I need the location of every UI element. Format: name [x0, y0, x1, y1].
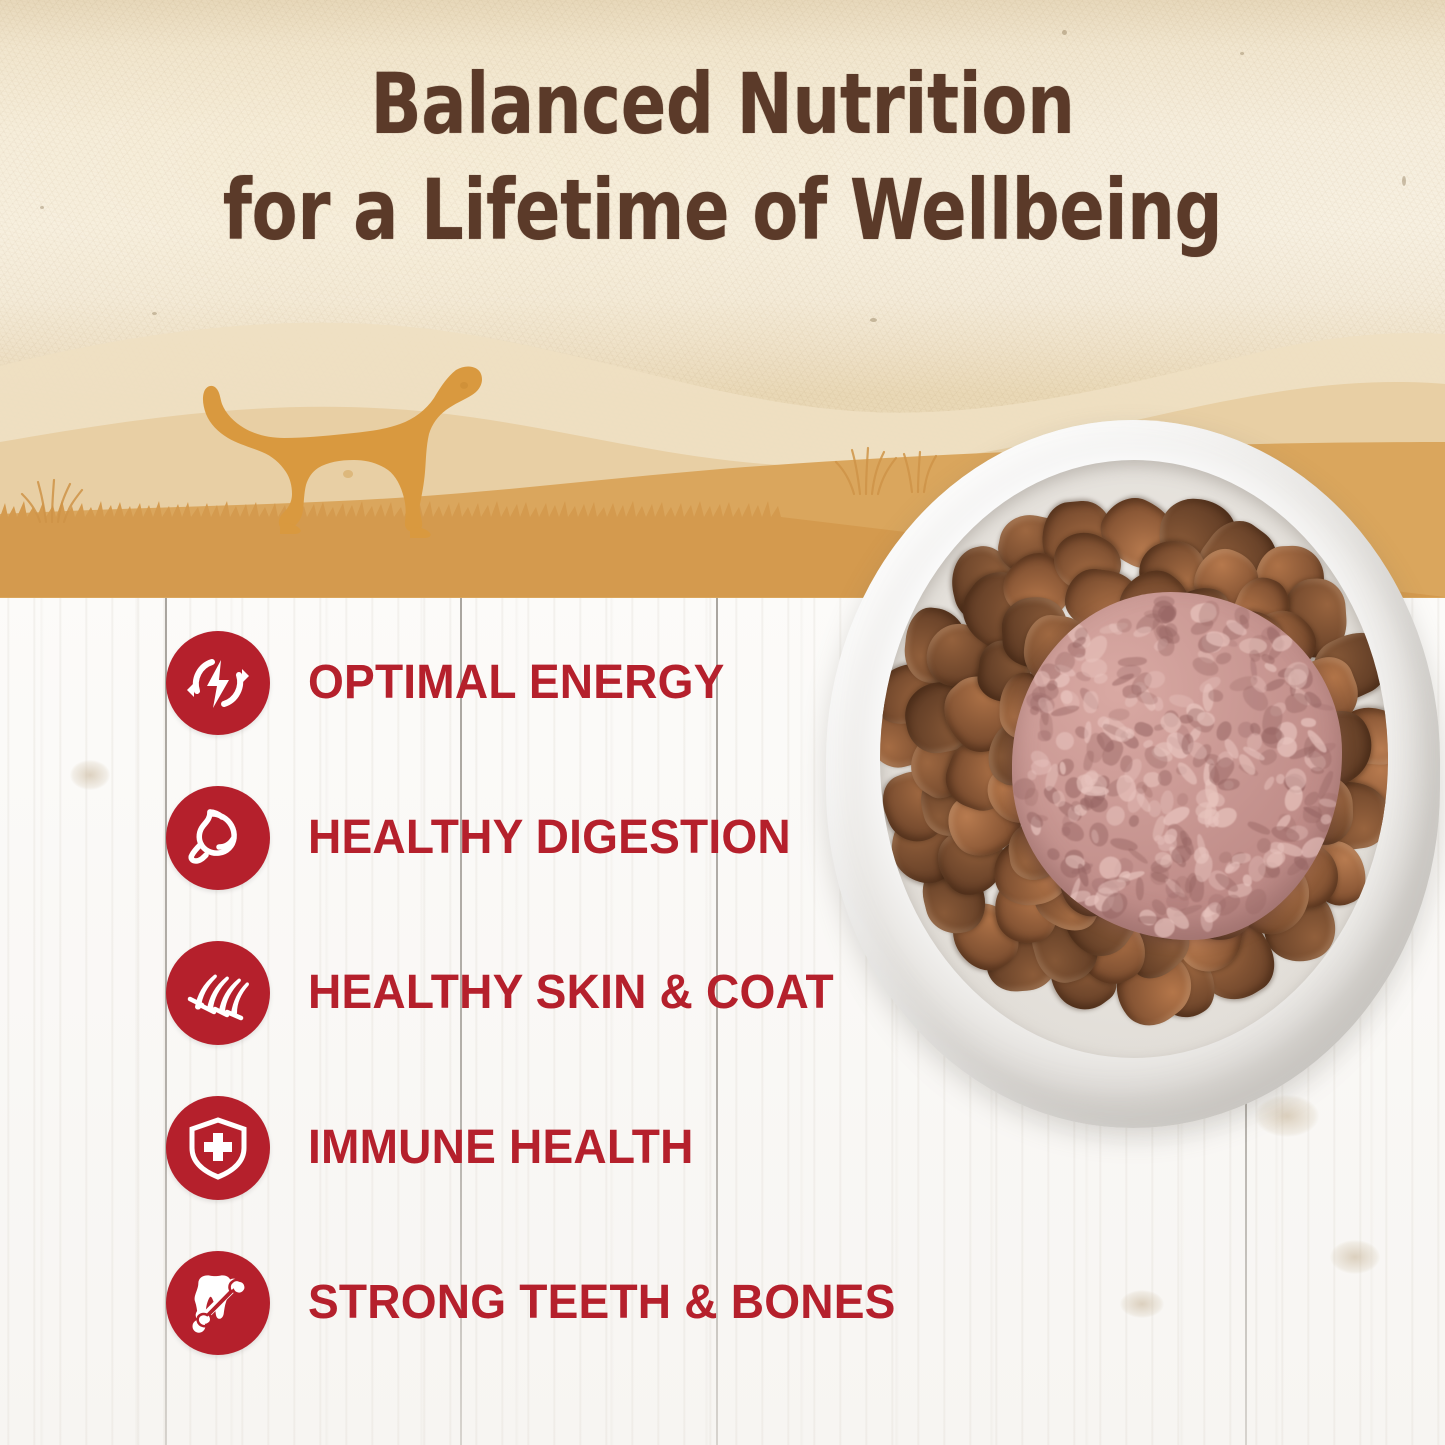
- benefit-row-healthy-skin-coat[interactable]: HEALTHY SKIN & COAT: [0, 934, 870, 1052]
- pate-grain: [1246, 819, 1271, 835]
- pate-grain: [1037, 730, 1050, 741]
- benefit-label: OPTIMAL ENERGY: [308, 659, 725, 707]
- energy-refresh-bolt-icon: [166, 631, 270, 735]
- pate-grain: [1108, 708, 1130, 722]
- benefit-row-optimal-energy[interactable]: OPTIMAL ENERGY: [0, 624, 870, 742]
- benefit-row-immune-health[interactable]: IMMUNE HEALTH: [0, 1089, 870, 1207]
- pate-grain: [1029, 705, 1039, 716]
- pate-grain: [1118, 656, 1147, 667]
- paper-speck: [1062, 30, 1067, 35]
- stomach-icon: [166, 786, 270, 890]
- poster-title: Balanced Nutrition for a Lifetime of Wel…: [0, 62, 1445, 252]
- pate-grain: [1262, 775, 1275, 791]
- benefit-label: IMMUNE HEALTH: [308, 1124, 694, 1172]
- pate-grain: [1023, 809, 1045, 831]
- pate-grain: [1168, 692, 1195, 709]
- paper-speck: [1240, 52, 1244, 55]
- shield-cross-icon: [166, 1096, 270, 1200]
- tooth-bone-icon: [166, 1251, 270, 1355]
- benefit-row-strong-teeth-bones[interactable]: STRONG TEETH & BONES: [0, 1244, 870, 1362]
- benefit-label: HEALTHY SKIN & COAT: [308, 969, 834, 1017]
- dog-food-bowl-photo: [826, 398, 1445, 1168]
- pate-grain: [1153, 596, 1174, 608]
- benefit-label: STRONG TEETH & BONES: [308, 1279, 896, 1327]
- benefit-label: HEALTHY DIGESTION: [308, 814, 791, 862]
- pate-grain: [1093, 672, 1109, 685]
- bowl-contents: [880, 460, 1388, 1058]
- pate-grain: [1311, 766, 1324, 774]
- pate-grain: [1127, 814, 1140, 828]
- benefits-list: OPTIMAL ENERGY HEALTHY DIGESTION: [0, 624, 870, 1399]
- pate-grain: [1046, 846, 1063, 862]
- pate-grain: [1158, 769, 1173, 786]
- pate-grain: [1083, 691, 1099, 714]
- pate-grain: [1300, 718, 1315, 727]
- pate-center: [1012, 592, 1342, 940]
- product-benefits-poster: Balanced Nutrition for a Lifetime of Wel…: [0, 0, 1445, 1445]
- pate-grain: [1055, 732, 1074, 751]
- pate-grain: [1175, 792, 1189, 808]
- wood-knot: [1120, 1290, 1164, 1318]
- hair-follicle-icon: [166, 941, 270, 1045]
- dog-silhouette-icon: [188, 352, 518, 552]
- title-line-2: for a Lifetime of Wellbeing: [145, 168, 1301, 252]
- title-line-1: Balanced Nutrition: [145, 62, 1301, 146]
- pate-grain: [1061, 825, 1071, 836]
- pate-grain: [1135, 878, 1144, 902]
- pate-grain: [1217, 778, 1240, 792]
- benefit-row-healthy-digestion[interactable]: HEALTHY DIGESTION: [0, 779, 870, 897]
- wood-knot: [1330, 1240, 1380, 1274]
- pate-grain: [1122, 684, 1142, 698]
